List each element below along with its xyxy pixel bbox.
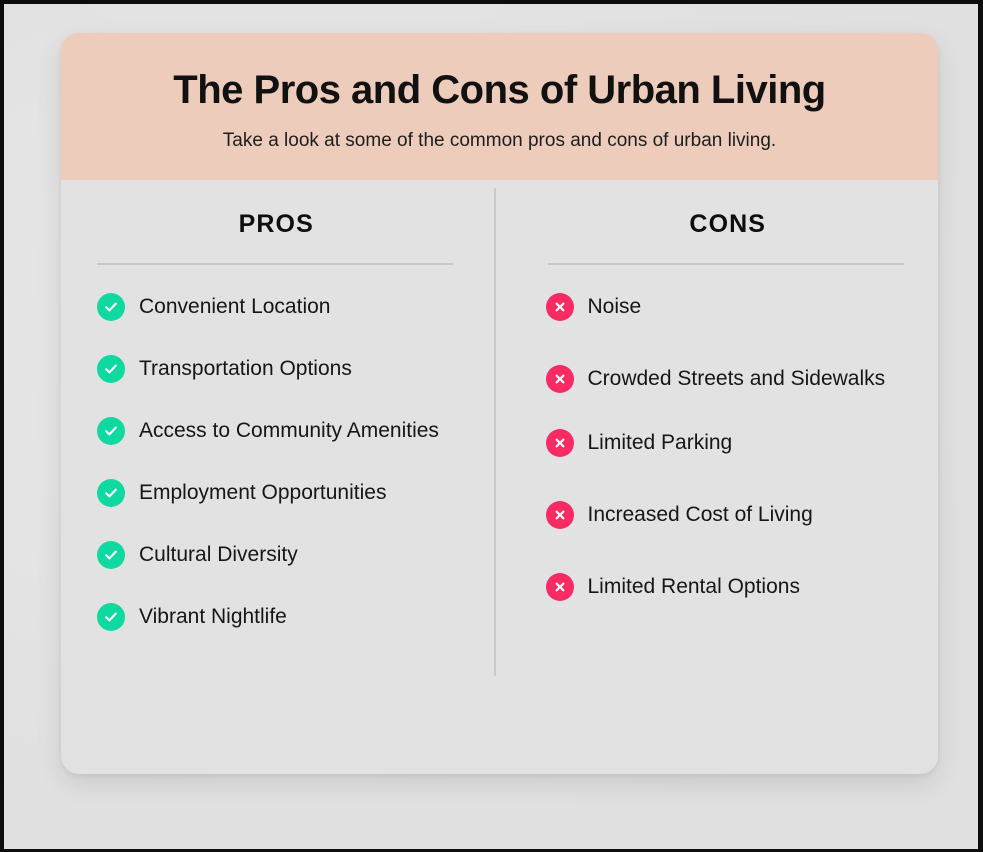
cross-circle-icon: [546, 365, 574, 393]
pros-list: Convenient Location Transportation Optio…: [97, 287, 456, 637]
list-item[interactable]: Limited Parking: [546, 423, 905, 463]
window-frame-top-edge: [0, 0, 983, 4]
list-item-label: Employment Opportunities: [139, 479, 386, 507]
list-item[interactable]: Cultural Diversity: [97, 535, 456, 575]
pros-cons-card: The Pros and Cons of Urban Living Take a…: [61, 33, 938, 774]
list-item[interactable]: Vibrant Nightlife: [97, 597, 456, 637]
list-item-label: Convenient Location: [139, 293, 330, 321]
list-item-label: Transportation Options: [139, 355, 352, 383]
list-item[interactable]: Transportation Options: [97, 349, 456, 389]
list-item[interactable]: Crowded Streets and Sidewalks: [546, 359, 905, 399]
cons-list: Noise Crowded Streets and Sidewalks: [546, 287, 905, 607]
cons-heading: CONS: [546, 210, 905, 239]
cross-circle-icon: [546, 293, 574, 321]
list-item-label: Vibrant Nightlife: [139, 603, 287, 631]
check-circle-icon: [97, 355, 125, 383]
check-circle-icon: [97, 293, 125, 321]
list-item-label: Increased Cost of Living: [588, 501, 813, 529]
list-item-label: Limited Parking: [588, 429, 733, 457]
list-item[interactable]: Increased Cost of Living: [546, 495, 905, 535]
list-item-label: Crowded Streets and Sidewalks: [588, 365, 886, 393]
cross-circle-icon: [546, 573, 574, 601]
cons-heading-rule: [548, 263, 905, 265]
list-item[interactable]: Noise: [546, 287, 905, 327]
check-circle-icon: [97, 603, 125, 631]
page-subtitle: Take a look at some of the common pros a…: [101, 129, 898, 154]
list-item-label: Access to Community Amenities: [139, 417, 439, 445]
window-frame-left-edge: [0, 0, 4, 852]
list-item[interactable]: Convenient Location: [97, 287, 456, 327]
list-item-label: Limited Rental Options: [588, 573, 800, 601]
column-divider: [494, 188, 496, 676]
cross-circle-icon: [546, 501, 574, 529]
pros-heading: PROS: [97, 210, 456, 239]
list-item[interactable]: Limited Rental Options: [546, 567, 905, 607]
list-item-label: Cultural Diversity: [139, 541, 298, 569]
window-frame-right-edge: [978, 0, 983, 852]
page-title: The Pros and Cons of Urban Living: [101, 67, 898, 113]
cross-circle-icon: [546, 429, 574, 457]
page-canvas: The Pros and Cons of Urban Living Take a…: [4, 4, 978, 849]
card-header: The Pros and Cons of Urban Living Take a…: [61, 33, 938, 180]
list-item[interactable]: Access to Community Amenities: [97, 411, 456, 451]
pros-heading-rule: [97, 263, 453, 265]
check-circle-icon: [97, 541, 125, 569]
pros-column: PROS Convenient Location: [61, 210, 490, 721]
check-circle-icon: [97, 417, 125, 445]
list-item-label: Noise: [588, 293, 642, 321]
check-circle-icon: [97, 479, 125, 507]
card-body: PROS Convenient Location: [61, 180, 938, 721]
cons-column: CONS Noise: [490, 210, 939, 721]
list-item[interactable]: Employment Opportunities: [97, 473, 456, 513]
